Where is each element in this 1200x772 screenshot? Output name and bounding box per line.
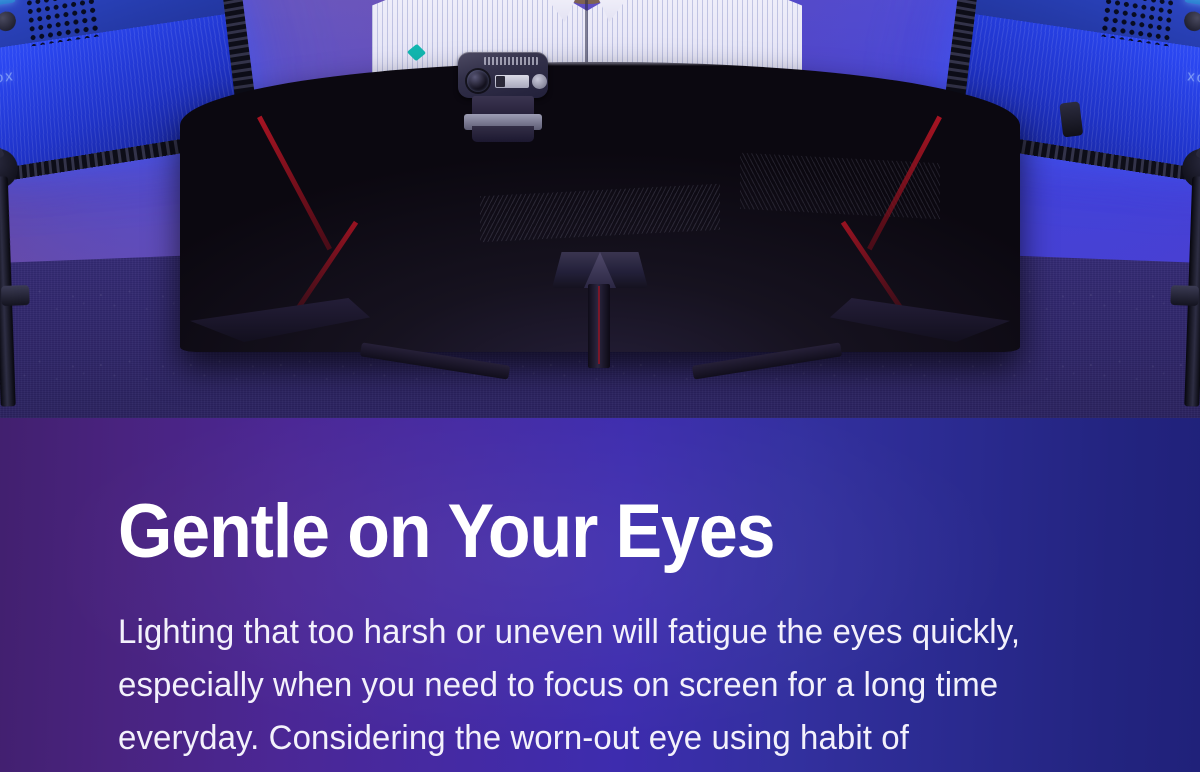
webcam-badge-icon [496, 76, 505, 87]
monitor-stand-red-line [598, 286, 600, 364]
temperature-knob-icon [1183, 10, 1200, 32]
webcam-dial [532, 74, 547, 89]
curved-gaming-monitor [180, 62, 1020, 362]
camera-lens-icon [467, 70, 489, 92]
hero-photo: Godox Godox [0, 0, 1200, 418]
webcam-body [458, 52, 548, 98]
product-feature-page: Godox Godox [0, 0, 1200, 772]
page-title: Gentle on Your Eyes [118, 494, 774, 570]
tripod-lock-ring-left [1, 285, 30, 306]
cable-ferrite-box-right [1059, 101, 1083, 137]
monitor-vent-right [740, 153, 940, 219]
tripod-lock-ring-right [1170, 285, 1199, 306]
clip-on-webcam [452, 52, 552, 147]
temperature-knob-icon [0, 10, 17, 32]
webcam-clip-lower [472, 126, 534, 142]
webcam-brand-text [484, 57, 538, 65]
feature-description: Lighting that too harsh or uneven will f… [118, 606, 1098, 765]
